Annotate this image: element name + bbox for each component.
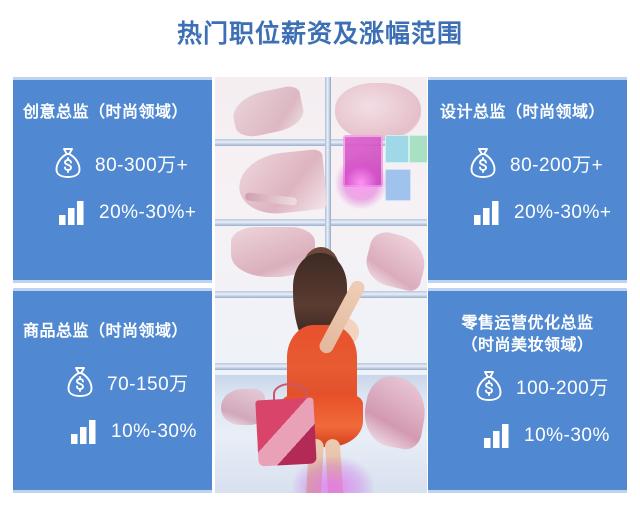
salary-value: 80-300万+ [95,150,188,177]
salary-row: 100-200万 [428,369,627,403]
salary-row: 80-200万+ [428,146,627,180]
job-card-design-director: 设计总监（时尚领域） 80-200万+ 20%-30%+ [428,77,627,283]
screen-tile-blue [385,169,411,201]
money-bag-icon [472,369,506,403]
salary-value: 70-150万 [107,369,189,396]
job-card-retail-operations-director: 零售运营优化总监 （时尚美妆领域） 100-200万 [428,288,627,493]
bar-chart-icon [480,419,514,453]
page-title: 热门职位薪资及涨幅范围 [0,18,640,50]
money-bag-icon [51,146,85,180]
money-bag-icon [466,146,500,180]
screen-tile-cyan [385,135,409,163]
growth-value: 10%-30% [111,421,197,443]
salary-row: 70-150万 [13,365,212,399]
bar-chart-icon [67,415,101,449]
growth-row: 20%-30%+ [13,196,212,230]
growth-value: 10%-30% [524,425,610,447]
infographic-root: 热门职位薪资及涨幅范围 [0,0,640,506]
salary-value: 80-200万+ [510,150,603,177]
screen-tile-green [409,135,427,163]
job-title: 商品总监（时尚领域） [13,321,212,343]
growth-row: 10%-30% [428,419,627,453]
salary-value: 100-200万 [516,373,609,400]
job-title: 零售运营优化总监 （时尚美妆领域） [428,313,627,357]
touch-glow-effect [335,157,387,209]
center-photo [215,77,427,493]
growth-row: 10%-30% [13,415,212,449]
job-title-line-1: 零售运营优化总监 [434,313,621,335]
bar-chart-icon [55,196,89,230]
job-title: 创意总监（时尚领域） [13,102,212,124]
salary-row: 80-300万+ [13,146,212,180]
money-bag-icon [63,365,97,399]
growth-value: 20%-30%+ [99,202,196,224]
bar-chart-icon [470,196,504,230]
job-card-merchandise-director: 商品总监（时尚领域） 70-150万 10%-30% [13,288,212,493]
job-card-creative-director: 创意总监（时尚领域） 80-300万+ 20%-30%+ [13,77,212,283]
growth-row: 20%-30%+ [428,196,627,230]
wall-seam-horizontal-2 [215,219,427,226]
product-portrait-top-right [335,83,421,141]
job-title-line-2: （时尚美妆领域） [434,335,621,357]
floor-glow-effect [293,457,373,493]
growth-value: 20%-30%+ [514,202,611,224]
job-title: 设计总监（时尚领域） [428,102,627,124]
